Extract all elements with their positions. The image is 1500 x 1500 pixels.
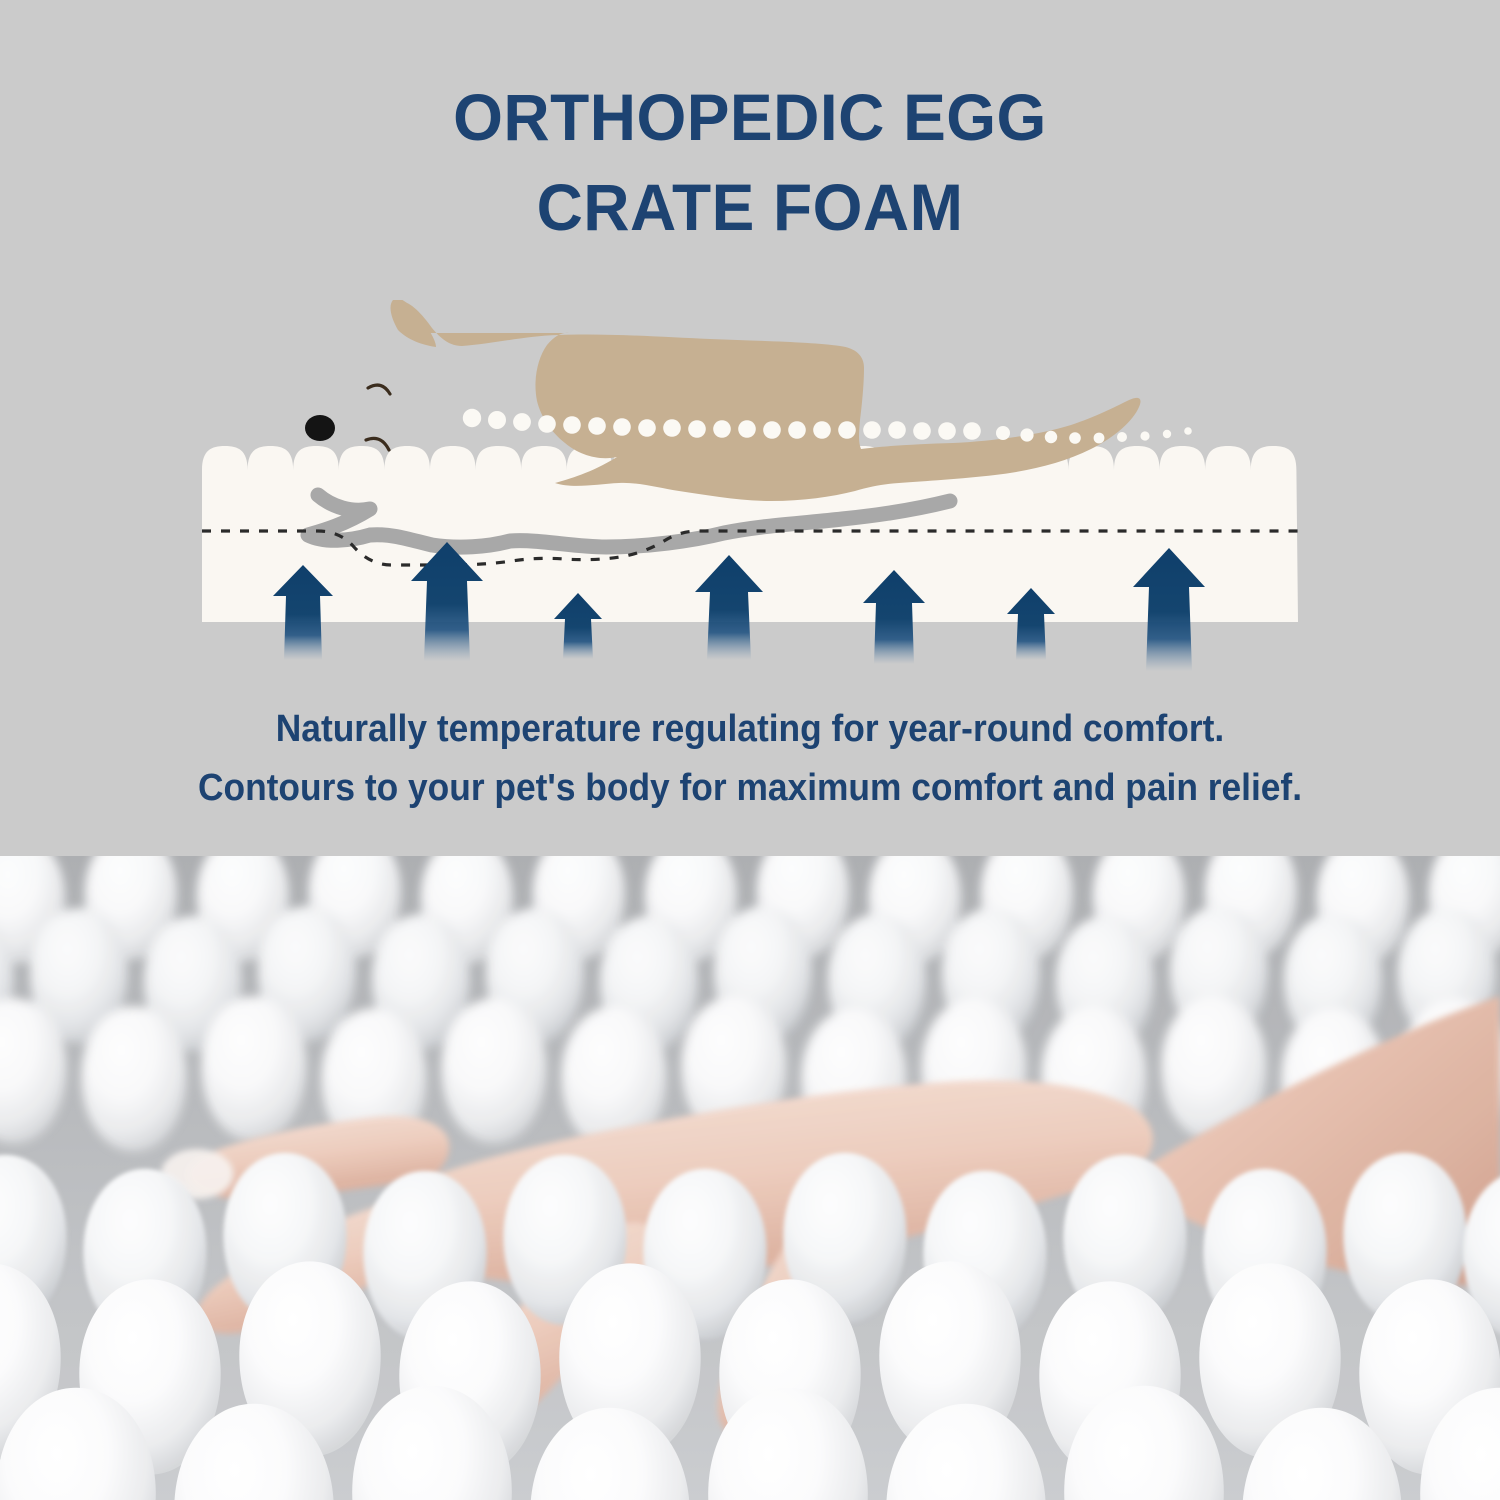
subcopy-line-2: Contours to your pet's body for maximum …: [53, 759, 1448, 818]
product-infographic: ORTHOPEDIC EGG CRATE FOAM: [0, 0, 1500, 1500]
foam-contour-diagram: [0, 300, 1500, 690]
headline-line-2: CRATE FOAM: [23, 162, 1478, 252]
dog-closed-eye: [368, 385, 390, 394]
page-title: ORTHOPEDIC EGG CRATE FOAM: [23, 72, 1478, 252]
subcopy-line-1: Naturally temperature regulating for yea…: [53, 700, 1448, 759]
headline-line-1: ORTHOPEDIC EGG: [23, 72, 1478, 162]
diagram-section: ORTHOPEDIC EGG CRATE FOAM: [0, 0, 1500, 856]
photo-light-falloff: [0, 856, 1500, 1500]
feature-description: Naturally temperature regulating for yea…: [53, 700, 1448, 818]
foam-photo-section: [0, 856, 1500, 1500]
dog-nose: [305, 415, 335, 441]
